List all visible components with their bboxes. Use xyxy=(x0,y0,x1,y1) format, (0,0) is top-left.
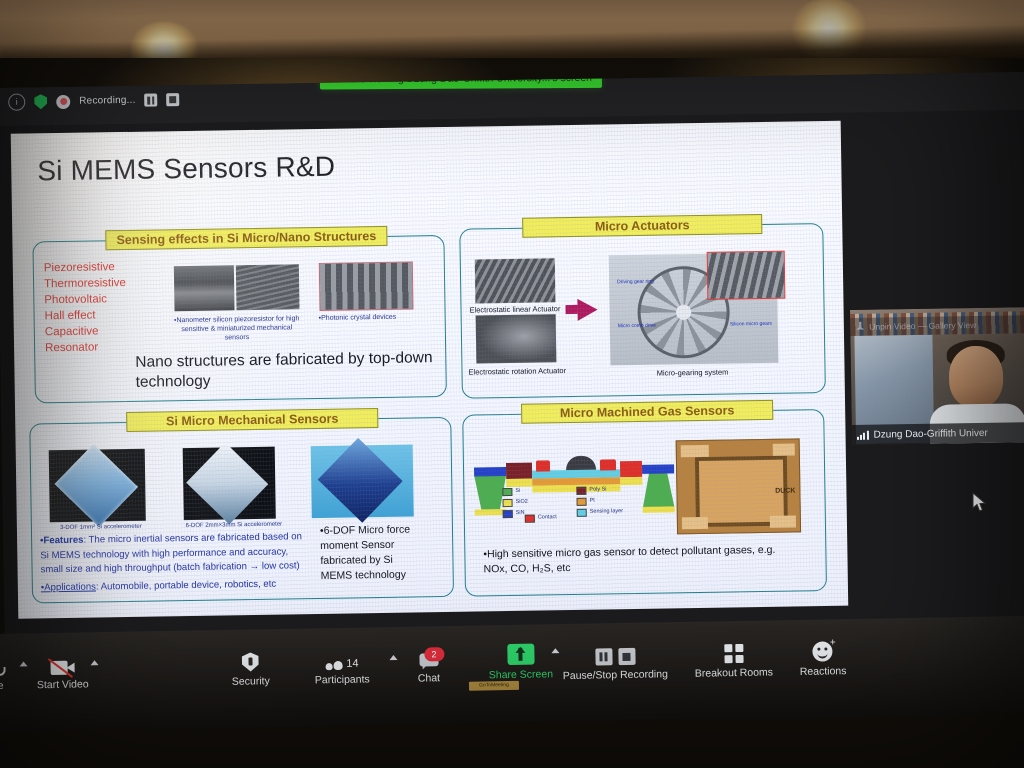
chip-micrograph: DUCK xyxy=(676,438,801,534)
pause-icon[interactable] xyxy=(595,648,612,665)
legend-item: SiO2 xyxy=(503,497,563,507)
video-overlay-hint[interactable]: Unpin Video — Gallery View xyxy=(850,315,1024,336)
toolbar-item-security[interactable]: Security xyxy=(231,649,270,688)
inset-label: Driving gear ring xyxy=(617,279,657,286)
inset-label: Silicon micro gears xyxy=(730,321,776,328)
toolbar-label: Security xyxy=(232,675,270,688)
panel-title: Si Micro Mechanical Sensors xyxy=(126,408,378,432)
panel-sensing-effects: Sensing effects in Si Micro/Nano Structu… xyxy=(32,235,446,403)
toolbar-item-participants[interactable]: 14 Participants xyxy=(314,647,370,686)
figure-caption: •Photonic crystal devices xyxy=(319,312,415,323)
photo-accelerometer-6dof xyxy=(183,447,276,520)
toolbar-item-reactions[interactable]: + Reactions xyxy=(799,639,846,678)
breakout-grid-icon xyxy=(724,641,743,663)
legend-item: Pt xyxy=(576,496,646,506)
panel-title: Micro Actuators xyxy=(522,214,762,238)
legend-item: Si xyxy=(502,486,562,496)
toolbar-item-share-screen[interactable]: Share Screen GoToMeeting xyxy=(488,642,553,681)
diagram-legend: Contact xyxy=(525,513,585,525)
diagram-legend: Poly Si Pt Sensing layer xyxy=(576,485,647,519)
figure-caption: •Nanometer silicon piezoresistor for hig… xyxy=(171,314,303,343)
list-item: Capacitive xyxy=(45,323,127,340)
list-item: Hall effect xyxy=(44,307,126,324)
chat-bubble-icon: 2 xyxy=(419,646,438,668)
sem-image-rotation-actuator xyxy=(476,314,557,363)
chat-badge: 2 xyxy=(424,647,444,661)
toolbar-label: Pause/Stop Recording xyxy=(563,668,668,682)
inset-label: Micro comb drive xyxy=(618,323,658,330)
microphone-icon xyxy=(0,654,2,676)
mouse-cursor xyxy=(972,492,988,514)
figure-caption: Electrostatic rotation Actuator xyxy=(468,366,584,377)
people-icon: 14 xyxy=(325,648,359,671)
figure-caption: 3-DOF 1mm² Si accelerometer xyxy=(46,523,156,534)
features-text: •Features: The micro inertial sensors ar… xyxy=(40,530,309,578)
person-head xyxy=(949,346,1004,409)
sem-image-linear-actuator xyxy=(475,258,556,303)
list-item: Piezoresistive xyxy=(44,259,126,276)
chip-label: DUCK xyxy=(775,487,795,494)
sem-image-photonic-crystal xyxy=(319,261,414,310)
page-title: Si MEMS Sensors R&D xyxy=(37,151,335,188)
list-item: Photovoltaic xyxy=(44,291,126,308)
arrow-right-icon xyxy=(577,299,597,321)
gas-sensor-note: •High sensitive micro gas sensor to dete… xyxy=(483,543,783,578)
chevron-up-icon[interactable] xyxy=(551,648,559,653)
stop-icon[interactable] xyxy=(166,93,179,106)
signal-bars-icon xyxy=(857,430,869,439)
sem-image-nanowire xyxy=(174,265,235,311)
toolbar-label: Start Video xyxy=(37,678,89,691)
participant-name: Dzung Dao-Griffith Univer xyxy=(873,427,987,440)
record-dot-icon xyxy=(56,94,70,108)
pause-stop-icon xyxy=(595,643,635,666)
toolbar-item-start-video[interactable]: Start Video GoToMeeting xyxy=(36,652,88,691)
pause-icon[interactable] xyxy=(144,93,157,106)
toolbar-item-unmute[interactable]: ute xyxy=(0,654,4,692)
toolbar-item-chat[interactable]: 2 Chat xyxy=(417,646,440,684)
chevron-up-icon[interactable] xyxy=(90,660,98,665)
overlay-hint-label: Unpin Video — Gallery View xyxy=(869,320,976,332)
shield-icon[interactable] xyxy=(34,94,47,109)
top-bar-left-cluster: i Recording... xyxy=(8,91,180,111)
toolbar-label: Participants xyxy=(315,673,370,686)
photo-accelerometer-3dof xyxy=(49,449,146,522)
toolbar-label: Reactions xyxy=(800,665,847,678)
list-item: Resonator xyxy=(45,339,127,356)
smiley-plus-icon: + xyxy=(813,639,833,661)
figure-caption: 6-DOF 2mm×3mm Si accelerometer xyxy=(178,520,290,531)
legend-item: Contact xyxy=(525,513,585,523)
list-item: Thermoresistive xyxy=(44,275,126,292)
sensing-effects-list: Piezoresistive Thermoresistive Photovolt… xyxy=(44,259,127,356)
toolbar-item-pause-stop-recording[interactable]: Pause/Stop Recording xyxy=(562,642,668,682)
photo-force-moment-sensor xyxy=(311,444,414,518)
panel-micro-machined-gas-sensors: Micro Machined Gas Sensors xyxy=(462,409,827,597)
participants-count: 14 xyxy=(346,658,358,670)
toolbar-tooltip: GoToMeeting xyxy=(469,681,519,691)
applications-body: : Automobile, portable device, robotics,… xyxy=(96,579,276,593)
stop-icon[interactable] xyxy=(618,648,635,665)
panel-statement: Nano structures are fabricated by top-do… xyxy=(135,348,436,393)
video-off-icon xyxy=(50,653,74,675)
sem-image-beams xyxy=(236,264,300,310)
panel-si-micro-mechanical-sensors: Si Micro Mechanical Sensors 3-DOF 1mm² S… xyxy=(29,417,454,604)
photo-of-meeting-screen: i Recording... You are viewing Dzung Dao… xyxy=(0,0,1024,768)
applications-text: •Applications: Automobile, portable devi… xyxy=(41,577,321,596)
figure-caption: Micro-gearing system xyxy=(622,367,762,378)
share-screen-icon xyxy=(507,643,534,665)
participant-name-bar: Dzung Dao-Griffith Univer xyxy=(852,422,1024,445)
shared-slide: Si MEMS Sensors R&D Sensing effects in S… xyxy=(11,121,849,619)
panel-title: Micro Machined Gas Sensors xyxy=(521,400,773,424)
toolbar-label: Breakout Rooms xyxy=(695,666,773,679)
zoom-bottom-toolbar: ute Start Video GoToMeeting Security 14 … xyxy=(0,616,1024,732)
legend-item: Sensing layer xyxy=(577,507,647,517)
toolbar-label: Share Screen xyxy=(489,668,553,681)
participant-video-tile[interactable]: Unpin Video — Gallery View Dzung Dao-Gri… xyxy=(850,307,1024,445)
figure-caption: Electrostatic linear Actuator xyxy=(469,304,569,315)
chevron-up-icon[interactable] xyxy=(389,655,397,660)
pin-icon xyxy=(856,321,864,332)
info-icon[interactable]: i xyxy=(8,94,25,111)
gear-inset-zoom xyxy=(707,251,786,300)
features-label: •Features xyxy=(40,535,84,547)
arrow-shaft xyxy=(565,305,577,314)
recording-label: Recording... xyxy=(79,95,135,107)
force-sensor-note: •6-DOF Micro force moment Sensor fabrica… xyxy=(320,522,423,584)
toolbar-label: ute xyxy=(0,680,4,692)
shield-icon xyxy=(242,649,259,671)
panel-title: Sensing effects in Si Micro/Nano Structu… xyxy=(105,226,387,250)
legend-item: Poly Si xyxy=(576,485,646,495)
chevron-up-icon[interactable] xyxy=(20,661,28,666)
panel-micro-actuators: Micro Actuators Electrostatic linear Act… xyxy=(459,223,826,399)
toolbar-item-breakout-rooms[interactable]: Breakout Rooms xyxy=(694,640,773,679)
toolbar-label: Chat xyxy=(418,672,440,684)
applications-label: •Applications xyxy=(41,581,96,593)
